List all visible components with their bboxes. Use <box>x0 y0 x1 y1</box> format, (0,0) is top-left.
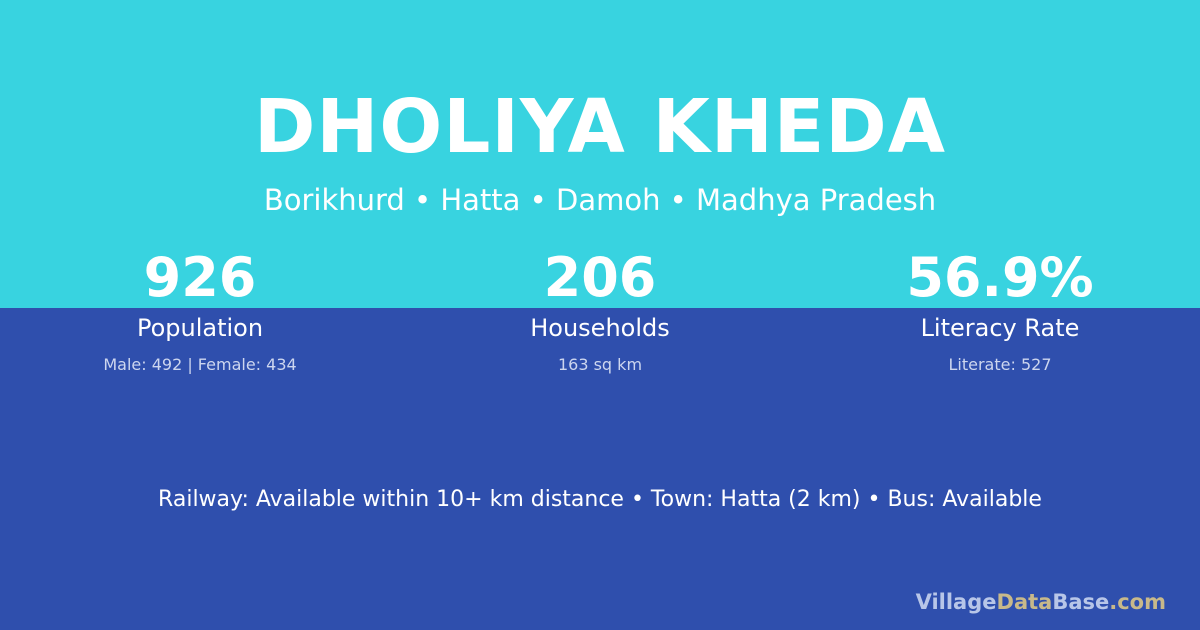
brand-base: Base <box>1052 590 1109 614</box>
stats-row: 926 Population Male: 492 | Female: 434 2… <box>0 246 1200 377</box>
stat-sublabel: 163 sq km <box>400 353 800 377</box>
stat-label: Population <box>0 312 400 344</box>
stat-literacy-rate: 56.9% Literacy Rate Literate: 527 <box>800 246 1200 377</box>
stat-value: 926 <box>0 246 400 310</box>
breadcrumb: Borikhurd • Hatta • Damoh • Madhya Prade… <box>0 182 1200 218</box>
stat-label: Literacy Rate <box>800 312 1200 344</box>
village-info-card: DHOLIYA KHEDA Borikhurd • Hatta • Damoh … <box>0 0 1200 630</box>
stat-population: 926 Population Male: 492 | Female: 434 <box>0 246 400 377</box>
stat-value: 206 <box>400 246 800 310</box>
facilities-line: Railway: Available within 10+ km distanc… <box>0 484 1200 516</box>
site-watermark: VillageDataBase.com <box>916 588 1166 616</box>
stat-value: 56.9% <box>800 246 1200 310</box>
brand-com: .com <box>1109 590 1166 614</box>
brand-village: Village <box>916 590 997 614</box>
page-title: DHOLIYA KHEDA <box>0 82 1200 172</box>
stat-sublabel: Literate: 527 <box>800 353 1200 377</box>
brand-data: Data <box>997 590 1053 614</box>
stat-households: 206 Households 163 sq km <box>400 246 800 377</box>
stat-sublabel: Male: 492 | Female: 434 <box>0 353 400 377</box>
stat-label: Households <box>400 312 800 344</box>
